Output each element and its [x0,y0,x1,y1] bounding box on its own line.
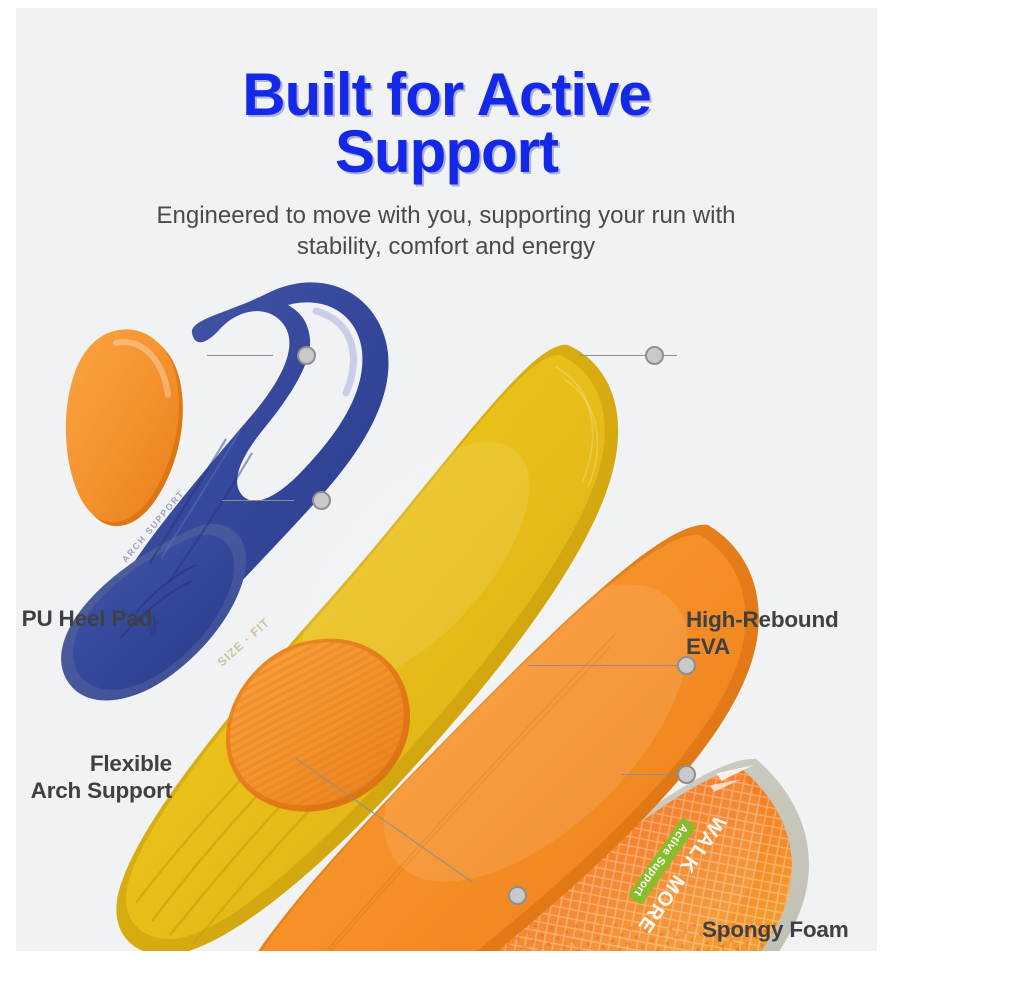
leader-arch-support [222,500,294,501]
marker-high-rebound-eva[interactable] [645,346,664,365]
callout-high-rebound-eva-line2: EVA [686,633,877,660]
eva-emboss-text: SIZE · FIT [215,615,273,669]
product-illustration: Active Support WALK MORE [16,263,877,951]
title-line-1: Built for Active [16,66,877,123]
page-subtitle: Engineered to move with you, supporting … [136,200,756,262]
title-line-2: Support [16,123,877,180]
marker-forefoot-eva[interactable] [508,886,527,905]
callout-arch-support-line1: Flexible [16,750,172,777]
marker-pu-heel-pad[interactable] [297,346,316,365]
subtitle-line-1: Engineered to move with you, supporting … [136,200,756,231]
leader-spongy-foam [528,665,693,666]
callout-arch-support[interactable]: Flexible Arch Support [16,750,172,804]
marker-arch-support[interactable] [312,491,331,510]
callout-high-rebound-eva[interactable]: High-Rebound EVA [686,606,877,660]
callout-high-rebound-eva-line1: High-Rebound [686,606,877,633]
page-title: Built for Active Support [16,66,877,180]
callout-spongy-foam[interactable]: Spongy Foam [702,916,877,943]
callout-pu-heel-pad-line1: PU Heel Pad [16,605,152,632]
callout-spongy-foam-line1: Spongy Foam [702,916,877,943]
marker-anti-slip[interactable] [677,765,696,784]
layer-pu-heel-pad [66,329,183,526]
subtitle-line-2: stability, comfort and energy [136,231,756,262]
callout-arch-support-line2: Arch Support [16,777,172,804]
content-panel: Built for Active Support Engineered to m… [16,8,877,951]
leader-pu-heel-pad [207,355,273,356]
callout-pu-heel-pad[interactable]: PU Heel Pad [16,605,152,632]
infographic-page: Built for Active Support Engineered to m… [0,0,1024,990]
